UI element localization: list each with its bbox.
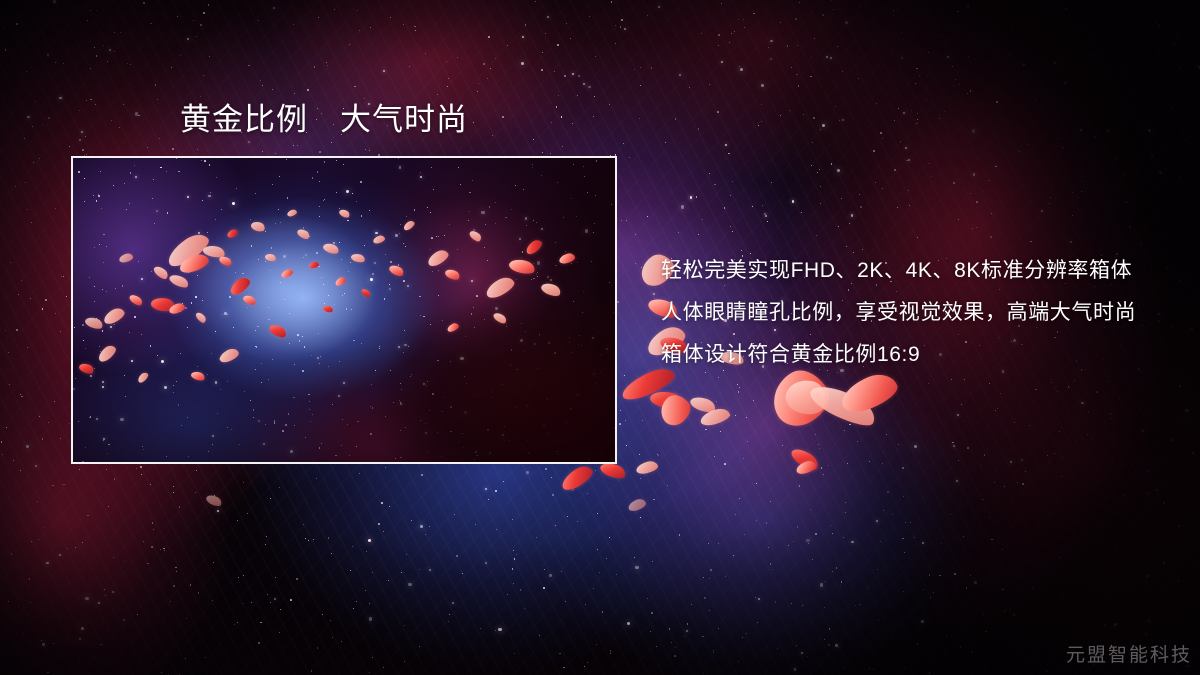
body-copy-line-3: 箱体设计符合黄金比例16:9	[661, 340, 1181, 382]
body-copy: 轻松完美实现FHD、2K、4K、8K标准分辨率箱体 人体眼睛瞳孔比例，享受视觉效…	[661, 256, 1181, 382]
watermark: 元盟智能科技	[1066, 640, 1192, 667]
framed-image-shadow	[73, 158, 615, 462]
framed-image-petals	[73, 158, 615, 462]
body-copy-line-2: 人体眼睛瞳孔比例，享受视觉效果，高端大气时尚	[661, 298, 1181, 340]
presentation-slide: 黄金比例 大气时尚 轻松完美实现FHD、2K、4K、8K标准分辨率箱体 人体眼睛…	[0, 0, 1200, 675]
page-title: 黄金比例 大气时尚	[180, 101, 468, 138]
framed-image[interactable]	[71, 156, 617, 464]
framed-image-nebula	[73, 158, 615, 462]
body-copy-line-1: 轻松完美实现FHD、2K、4K、8K标准分辨率箱体	[661, 256, 1181, 298]
framed-image-starfield	[73, 158, 615, 462]
